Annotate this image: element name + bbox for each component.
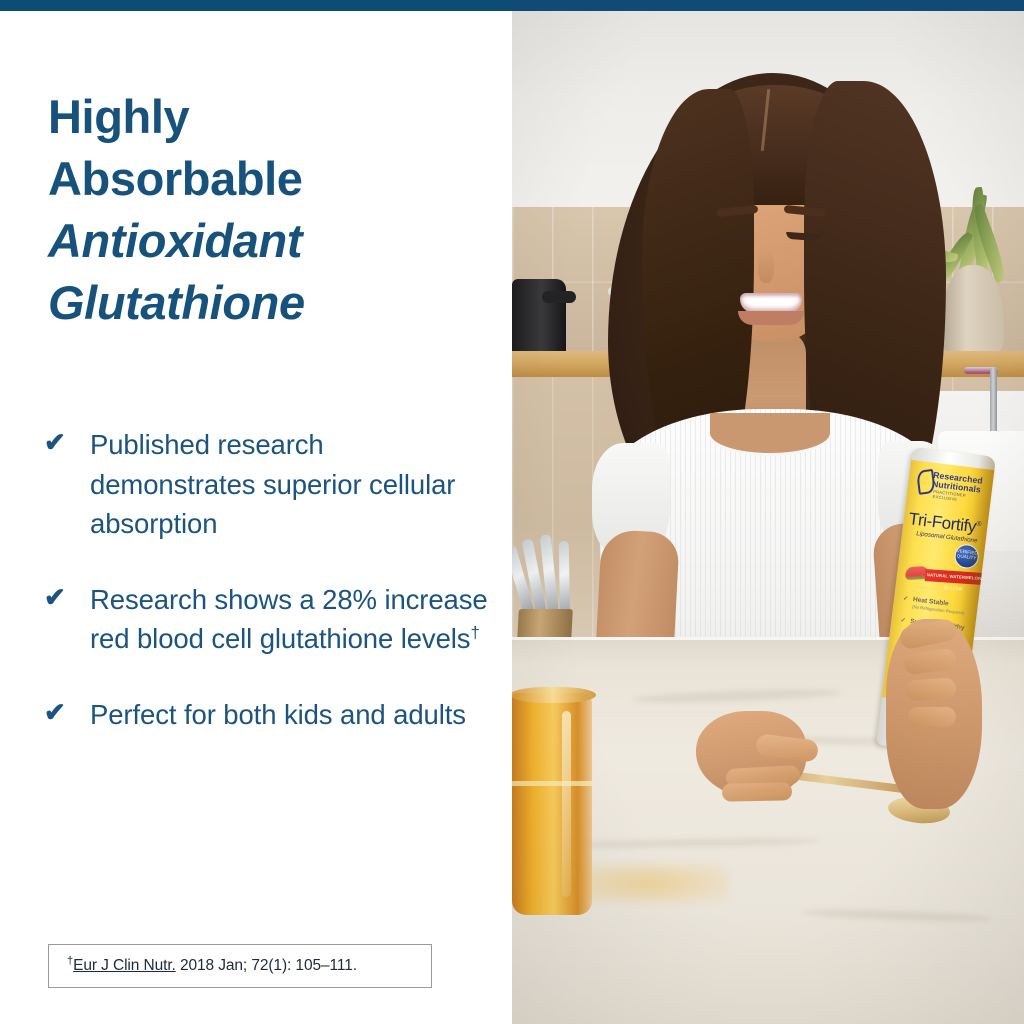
- left-text-panel: Highly Absorbable Antioxidant Glutathion…: [0, 11, 512, 1024]
- list-item-text: Research shows a 28% increase red blood …: [90, 584, 488, 655]
- finger: [722, 782, 792, 801]
- marketing-graphic: Highly Absorbable Antioxidant Glutathion…: [0, 0, 1024, 1024]
- kettle-handle: [542, 291, 576, 303]
- faucet: [990, 367, 997, 439]
- headline-line-3: Antioxidant: [48, 210, 478, 272]
- list-item-label: Research shows a 28% increase red blood …: [90, 580, 492, 659]
- checkmark-icon: ✓: [903, 595, 909, 603]
- citation-details: 2018 Jan; 72(1): 105–111.: [176, 957, 357, 974]
- headline-line-4: Glutathione: [48, 272, 478, 334]
- list-item-label: Perfect for both kids and adults: [90, 695, 492, 735]
- glass-light-reflection: [568, 863, 728, 903]
- glass-rim: [512, 687, 596, 703]
- lower-lip: [738, 311, 804, 325]
- tshirt-collar: [710, 413, 830, 453]
- checkmark-icon: ✓: [900, 617, 906, 625]
- lifestyle-photo: Researched Nutritionals PRACTITIONER EXC…: [512, 11, 1024, 1024]
- glass-highlight: [562, 711, 571, 897]
- list-item-label: Published research demonstrates superior…: [90, 425, 492, 544]
- smiling-mouth: [740, 293, 802, 313]
- list-item: ✔ Published research demonstrates superi…: [42, 425, 492, 544]
- journal-name: Eur J Clin Nutr.: [73, 957, 176, 974]
- knife-handle: [559, 541, 570, 615]
- finger: [905, 677, 956, 701]
- checkmark-icon: ✔: [44, 579, 66, 616]
- finger: [908, 707, 956, 727]
- page-title: Highly Absorbable Antioxidant Glutathion…: [48, 86, 478, 334]
- nose: [758, 249, 774, 283]
- headline-line-2: Absorbable: [48, 148, 478, 210]
- liquid-surface-line: [512, 781, 592, 786]
- footnote-marker: †: [470, 623, 479, 642]
- citation-box: †Eur J Clin Nutr. 2018 Jan; 72(1): 105–1…: [48, 944, 432, 988]
- amber-glass-tumbler: [512, 693, 592, 915]
- benefit-list: ✔ Published research demonstrates superi…: [42, 425, 492, 735]
- citation-text: †Eur J Clin Nutr. 2018 Jan; 72(1): 105–1…: [49, 957, 357, 975]
- headline-line-1: Highly: [48, 86, 478, 148]
- checkmark-icon: ✔: [44, 424, 66, 461]
- list-item: ✔ Research shows a 28% increase red bloo…: [42, 580, 492, 659]
- list-item: ✔ Perfect for both kids and adults: [42, 695, 492, 735]
- top-accent-bar: [0, 0, 1024, 11]
- checkmark-icon: ✔: [44, 694, 66, 731]
